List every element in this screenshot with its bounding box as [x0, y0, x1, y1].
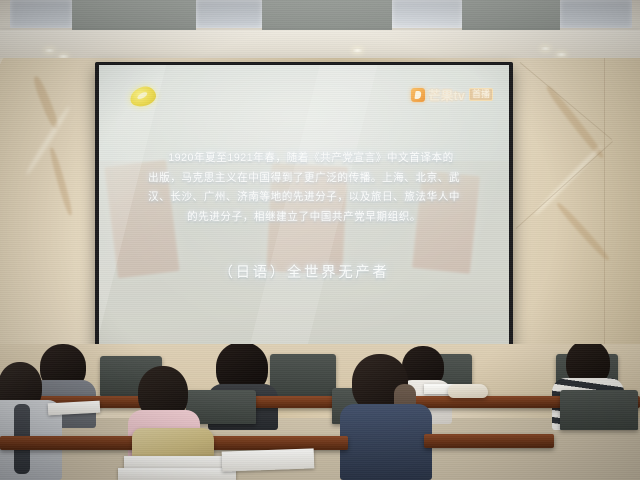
mango-tv-mark-icon — [411, 88, 425, 102]
subtitle-line-2: 出版，马克思主义在中国得到了更广泛的传播。上海、北京、武 — [129, 169, 479, 189]
subtitle-line-1: 1920年夏至1921年春，随着《共产党宣言》中文首译本的 — [129, 149, 479, 169]
audience-area — [0, 344, 640, 480]
subtitle-line-3: 汉、长沙、广州、济南等地的先进分子，以及旅日、旅法华人中 — [129, 188, 479, 208]
marble-seam — [520, 62, 613, 140]
ceiling-recess — [72, 0, 196, 30]
downlight-icon — [556, 52, 567, 57]
paper-stack — [118, 468, 236, 480]
downlight-icon — [352, 48, 363, 53]
ceiling — [0, 0, 640, 62]
notebook — [222, 448, 315, 471]
mango-tv-logo: 芒果tv 首播 — [411, 85, 493, 104]
ceiling-recess — [462, 0, 560, 30]
downlight-icon — [540, 46, 551, 51]
subtitle-block: 1920年夏至1921年春，随着《共产党宣言》中文首译本的 出版，马克思主义在中… — [129, 149, 479, 227]
downlight-icon — [44, 48, 55, 53]
ceiling-light-panel — [196, 0, 262, 28]
projection-screen-frame: 芒果tv 首播 1920年夏至1921年春，随着《共产党宣言》中文首译本的 出版… — [95, 62, 513, 350]
subtitle-line-4: 的先进分子，相继建立了中国共产党早期组织。 — [129, 208, 479, 228]
subtitle-caption: （日语）全世界无产者 — [129, 261, 479, 282]
ceiling-light-panel — [392, 0, 462, 28]
lecture-hall-photo: 芒果tv 首播 1920年夏至1921年春，随着《共产党宣言》中文首译本的 出版… — [0, 0, 640, 480]
desk-bag — [448, 384, 488, 398]
desk-row-front — [0, 436, 150, 450]
desk-row-front — [196, 436, 348, 450]
projection-screen: 芒果tv 首播 1920年夏至1921年春，随着《共产党宣言》中文首译本的 出版… — [99, 65, 509, 346]
ceiling-light-panel — [560, 0, 632, 28]
marble-seam — [604, 58, 605, 358]
mango-tv-wordmark: 芒果tv — [428, 85, 465, 104]
ceiling-recess — [262, 0, 392, 30]
desk-row-front — [424, 434, 554, 448]
premiere-badge: 首播 — [469, 88, 493, 101]
marble-vein — [48, 147, 74, 216]
chair-back — [270, 354, 336, 396]
ceiling-light-panel — [10, 0, 72, 28]
chair-back — [560, 390, 638, 430]
marble-vein — [555, 201, 611, 262]
